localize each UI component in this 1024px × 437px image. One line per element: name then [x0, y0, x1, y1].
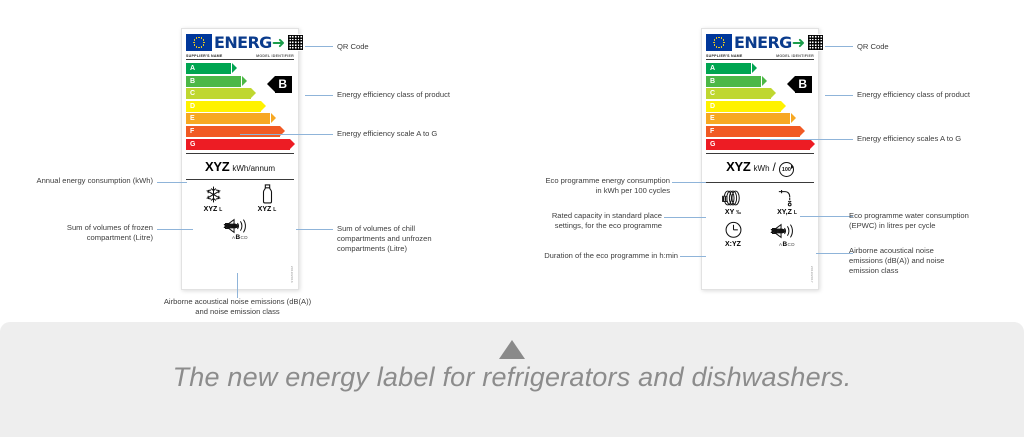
- eu-star: [718, 47, 720, 49]
- programme-duration-value: X:YZ: [725, 241, 741, 248]
- supplier-row: SUPPLIER'S NAME MODEL IDENTIFIER: [186, 54, 294, 60]
- noise-value: XY dB: [771, 228, 785, 233]
- scale-class-letter: F: [710, 128, 714, 135]
- scale-row: A: [706, 63, 814, 74]
- eu-star: [723, 39, 725, 41]
- annotation-water-consumption: Eco programme water consumption (EPWC) i…: [849, 211, 982, 231]
- scale-row: F: [186, 126, 294, 137]
- scale-row: D: [706, 101, 814, 112]
- eu-star: [194, 39, 196, 41]
- scale-row: G: [706, 139, 814, 150]
- scale-row: C: [706, 88, 814, 99]
- scale-class-letter: D: [190, 103, 195, 110]
- annotation-efficiency-scale: Energy efficiency scale A to G: [337, 129, 487, 139]
- scale-class-letter: C: [710, 90, 715, 97]
- energy-label-infographic: ENERG➜ SUPPLIER'S NAME MODEL IDENTIFIER …: [0, 0, 1024, 437]
- eu-star: [203, 39, 205, 41]
- scale-row: B B: [706, 76, 814, 87]
- leader-line: [664, 217, 706, 218]
- consumption-unit: kWh/annum: [232, 164, 275, 173]
- leader-line: [816, 253, 853, 254]
- speaker-icon: XY dB: [770, 220, 804, 241]
- annotation-frozen-volumes: Sum of volumes of frozen compartment (Li…: [30, 223, 153, 243]
- triangle-up-icon: [499, 340, 525, 359]
- eu-star: [203, 42, 205, 44]
- leader-line: [296, 229, 333, 230]
- metrics-grid: XYZ L XYZ L XY dB: [186, 184, 294, 241]
- scale-bar-c: C: [186, 88, 251, 99]
- scale-class-letter: E: [190, 115, 195, 122]
- eu-star: [716, 37, 718, 39]
- rated-capacity-value: XY ‰: [725, 209, 741, 216]
- clock-icon: [724, 219, 743, 240]
- noise-class-scale: ABCD: [779, 241, 795, 248]
- scale-class-letter: D: [710, 103, 715, 110]
- energy-label-card-refrigerator: ENERG➜ SUPPLIER'S NAME MODEL IDENTIFIER …: [181, 28, 299, 290]
- scale-class-letter: F: [190, 128, 194, 135]
- scale-bar-b: B: [706, 76, 761, 87]
- regulation-reference: 2019/2016: [290, 266, 294, 283]
- consumption-value: XYZ: [205, 159, 229, 174]
- supplier-row: SUPPLIER'S NAME MODEL IDENTIFIER: [706, 54, 814, 60]
- scale-bar-d: D: [186, 101, 261, 112]
- leader-line: [825, 46, 853, 47]
- eu-flag-icon: [706, 34, 732, 51]
- water-consumption-value: XY,Z L: [777, 209, 797, 216]
- metrics-grid: XY ‰ XY,Z L: [706, 187, 814, 248]
- scale-class-letter: A: [710, 65, 715, 72]
- scale-row: E: [706, 113, 814, 124]
- tap-icon: [776, 187, 798, 208]
- eu-star: [201, 46, 203, 48]
- scale-row: C: [186, 88, 294, 99]
- model-identifier: MODEL IDENTIFIER: [256, 54, 294, 58]
- annotation-eco-energy-consumption: Eco programme energy consumption in kWh …: [545, 176, 670, 196]
- consumption-unit: kWh: [754, 164, 770, 173]
- eco-programme-energy-consumption: XYZ kWh / 100: [706, 153, 814, 184]
- leader-line: [305, 46, 333, 47]
- scale-row: A: [186, 63, 294, 74]
- annotation-noise-emissions-dish: Airborne acoustical noise emissions (dB(…: [849, 246, 967, 276]
- annotation-efficiency-class: Energy efficiency class of product: [857, 90, 1022, 100]
- annotation-noise-emissions-fridge: Airborne acoustical noise emissions (dB(…: [160, 297, 315, 317]
- programme-duration-metric: X:YZ: [706, 219, 760, 248]
- noise-value: XY dB: [224, 223, 238, 228]
- eu-star: [716, 46, 718, 48]
- chill-volume-metric: XYZ L: [240, 184, 294, 213]
- scale-row: G: [186, 139, 294, 150]
- eu-star: [203, 44, 205, 46]
- supplier-name: SUPPLIER'S NAME: [706, 54, 743, 58]
- leader-line: [760, 139, 853, 140]
- annotation-efficiency-class: Energy efficiency class of product: [337, 90, 497, 100]
- eu-star: [198, 47, 200, 49]
- scale-row: B B: [186, 76, 294, 87]
- eu-star: [721, 46, 723, 48]
- leader-line: [305, 95, 333, 96]
- energy-efficiency-scale: A B B C D E F G: [706, 63, 814, 150]
- eu-star: [196, 46, 198, 48]
- caption-text: The new energy label for refrigerators a…: [0, 362, 1024, 393]
- frozen-volume-metric: XYZ L: [186, 184, 240, 213]
- scale-bar-e: E: [706, 113, 790, 124]
- eu-star: [198, 37, 200, 39]
- eu-star: [718, 37, 720, 39]
- noise-emission-metric: XY dB ABCD: [186, 216, 294, 241]
- label-header: ENERG➜: [706, 33, 814, 52]
- bottle-icon: [261, 184, 274, 205]
- scale-row: F: [706, 126, 814, 137]
- leader-line: [157, 229, 193, 230]
- plates-icon: [720, 187, 746, 208]
- water-consumption-metric: XY,Z L: [760, 187, 814, 216]
- annotation-qr-code: QR Code: [337, 42, 457, 52]
- scale-bar-a: A: [186, 63, 231, 74]
- scale-bar-g: G: [186, 139, 290, 150]
- supplier-name: SUPPLIER'S NAME: [186, 54, 223, 58]
- snowflake-icon: [204, 184, 223, 205]
- eu-star: [713, 42, 715, 44]
- annotation-rated-capacity: Rated capacity in standard place setting…: [545, 211, 662, 231]
- eu-star: [193, 42, 195, 44]
- leader-line: [800, 216, 853, 217]
- scale-bar-a: A: [706, 63, 751, 74]
- leader-line: [825, 95, 853, 96]
- scale-bar-g: G: [706, 139, 810, 150]
- eu-star: [723, 42, 725, 44]
- annotation-chill-volumes: Sum of volumes of chill compartments and…: [337, 224, 449, 254]
- annotation-annual-consumption: Annual energy consumption (kWh): [10, 176, 153, 186]
- separator: /: [773, 160, 776, 174]
- eu-star: [196, 37, 198, 39]
- energ-text: ENERG: [214, 33, 272, 52]
- scale-row: E: [186, 113, 294, 124]
- eu-star: [714, 39, 716, 41]
- energy-label-card-dishwasher: ENERG➜ SUPPLIER'S NAME MODEL IDENTIFIER …: [701, 28, 819, 290]
- chill-volume-value: XYZ L: [258, 206, 277, 213]
- label-header: ENERG➜: [186, 33, 294, 52]
- scale-bar-e: E: [186, 113, 270, 124]
- annotation-programme-duration: Duration of the eco programme in h:min: [536, 251, 678, 261]
- leader-line: [240, 134, 333, 135]
- scale-bar-b: B: [186, 76, 241, 87]
- noise-emission-metric: XY dB ABCD: [760, 219, 814, 248]
- annual-energy-consumption: XYZ kWh/annum: [186, 153, 294, 180]
- scale-bar-d: D: [706, 101, 781, 112]
- annotation-qr-code: QR Code: [857, 42, 977, 52]
- leader-line: [680, 256, 706, 257]
- scale-row: D: [186, 101, 294, 112]
- frozen-volume-value: XYZ L: [204, 206, 223, 213]
- energ-wordmark: ENERG➜: [734, 35, 805, 51]
- scale-bar-f: F: [186, 126, 280, 137]
- leader-line: [237, 273, 238, 298]
- bolt-icon: ➜: [272, 33, 285, 52]
- scale-class-letter: G: [710, 141, 715, 148]
- energ-wordmark: ENERG➜: [214, 35, 285, 51]
- scale-class-letter: A: [190, 65, 195, 72]
- eu-star: [723, 44, 725, 46]
- annotation-efficiency-scales: Energy efficiency scales A to G: [857, 134, 1017, 144]
- leader-line: [672, 182, 706, 183]
- rated-capacity-metric: XY ‰: [706, 187, 760, 216]
- model-identifier: MODEL IDENTIFIER: [776, 54, 814, 58]
- consumption-value: XYZ: [726, 159, 750, 174]
- leader-line: [157, 182, 187, 183]
- qr-code-icon: [807, 34, 824, 51]
- energ-text: ENERG: [734, 33, 792, 52]
- scale-bar-f: F: [706, 126, 800, 137]
- scale-class-letter: C: [190, 90, 195, 97]
- qr-code-icon: [287, 34, 304, 51]
- eu-flag-icon: [186, 34, 212, 51]
- scale-class-letter: E: [710, 115, 715, 122]
- scale-class-letter: B: [190, 78, 195, 85]
- regulation-reference: 2019/2017: [810, 266, 814, 283]
- scale-class-letter: B: [710, 78, 715, 85]
- noise-class-scale: ABCD: [232, 234, 248, 241]
- scale-class-letter: G: [190, 141, 195, 148]
- energy-efficiency-scale: A B B C D E F G: [186, 63, 294, 150]
- scale-bar-c: C: [706, 88, 771, 99]
- cycles-icon: 100: [779, 162, 794, 177]
- bolt-icon: ➜: [792, 33, 805, 52]
